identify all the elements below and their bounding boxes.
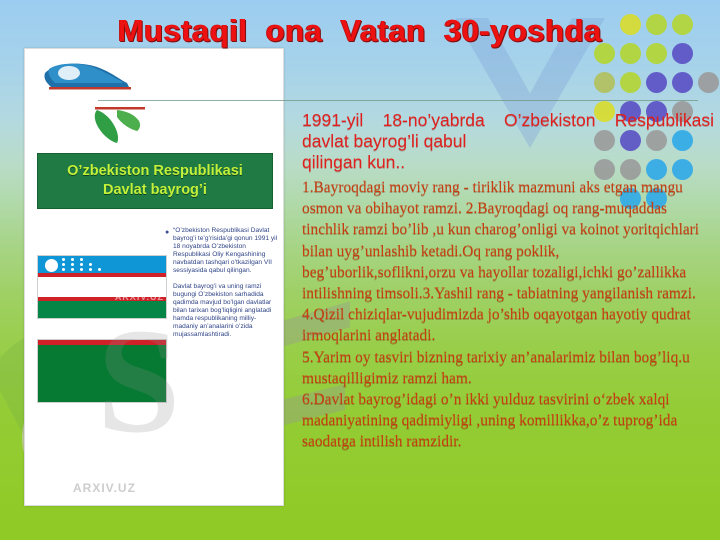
twelve-stars-icon	[62, 258, 116, 273]
poster-letter-s-watermark: S	[97, 311, 180, 451]
decorative-dot	[646, 72, 667, 93]
body-paragraph: 4.Qizil chiziqlar-vujudimizda jo’shib oq…	[302, 304, 714, 346]
poster-arxiv-watermark: ARXIV.UZ	[73, 481, 136, 495]
slide-body-content: 1991-yil 18-no’yabrda O’zbekiston Respub…	[302, 110, 714, 453]
poster-banner-line-1: O’zbekiston Respublikasi	[67, 162, 243, 181]
lead-line-1: 1991-yil 18-no’yabrda O’zbekiston	[302, 110, 595, 130]
lead-paragraph: 1991-yil 18-no’yabrda O’zbekiston Respub…	[302, 110, 714, 173]
body-paragraph: 5.Yarim oy tasviri bizning tarixiy an’an…	[302, 347, 714, 389]
lead-line-3: qilingan kun..	[302, 152, 714, 173]
decorative-dot	[698, 72, 719, 93]
flag-poster-card: O’zbekiston Respublikasi Davlat bayrog’i	[24, 48, 284, 506]
crescent-moon-icon	[45, 259, 58, 272]
poster-bullet-paragraph-2: Davlat bayrog’i va uning ramzi bugungi O…	[173, 283, 279, 340]
poster-bullet-text-block: ● “O’zbekiston Respublikasi Davlat bayro…	[165, 227, 279, 346]
slide-title: Mustaqil ona Vatan 30-yoshda	[0, 13, 720, 49]
body-paragraph-list: 1.Bayroqdagi moviy rang - tiriklik mazmu…	[302, 177, 714, 453]
poster-banner-line-2: Davlat bayrog’i	[103, 181, 207, 200]
poster-banner: O’zbekiston Respublikasi Davlat bayrog’i	[37, 153, 273, 209]
decorative-dot	[594, 72, 615, 93]
uzbekistan-map-emblem-icon	[39, 53, 179, 145]
poster-bullet-paragraph-1: “O’zbekiston Respublikasi Davlat bayrog’…	[173, 227, 279, 276]
bullet-point-icon: ●	[165, 229, 169, 236]
title-divider	[98, 100, 698, 101]
body-paragraph: 6.Davlat bayrog’idagi o’n ikki yulduz ta…	[302, 389, 714, 453]
decorative-dot	[620, 72, 641, 93]
body-paragraph: 1.Bayroqdagi moviy rang - tiriklik mazmu…	[302, 177, 714, 304]
decorative-dot	[672, 72, 693, 93]
